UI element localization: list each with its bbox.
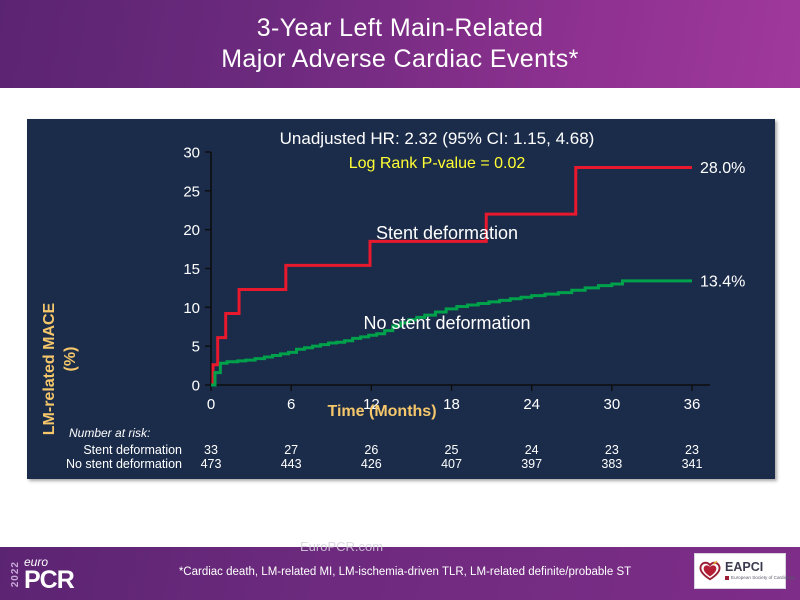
risk-value: 23 bbox=[685, 443, 699, 457]
x-tick-label: 24 bbox=[523, 396, 540, 413]
x-tick-label: 0 bbox=[207, 396, 215, 413]
y-tick-label: 0 bbox=[192, 378, 200, 395]
eapci-subtitle-text: European Society of Cardiology bbox=[731, 574, 796, 581]
y-tick-label: 15 bbox=[183, 261, 200, 278]
eapci-name: EAPCI bbox=[725, 561, 796, 574]
risk-value: 23 bbox=[605, 443, 619, 457]
risk-value: 26 bbox=[364, 443, 378, 457]
risk-row-label: No stent deformation bbox=[66, 457, 182, 471]
x-tick-label: 30 bbox=[603, 396, 620, 413]
risk-value: 426 bbox=[361, 457, 382, 471]
page-title-line-1: 3-Year Left Main-Related bbox=[257, 13, 544, 44]
series-label: No stent deformation bbox=[363, 313, 530, 333]
risk-value: 27 bbox=[284, 443, 298, 457]
risk-value: 383 bbox=[601, 457, 622, 471]
series-inline-labels: Stent deformationNo stent deformation bbox=[363, 223, 530, 333]
x-tick-label: 6 bbox=[287, 396, 295, 413]
curve-stent-deformation bbox=[211, 168, 692, 385]
x-axis-ticks: 061218243036 bbox=[207, 385, 701, 413]
y-axis-ticks: 051015202530 bbox=[183, 145, 211, 395]
eapci-text-block: EAPCI European Society of Cardiology bbox=[725, 561, 796, 581]
kaplan-meier-chart: Unadjusted HR: 2.32 (95% CI: 1.15, 4.68)… bbox=[27, 119, 775, 479]
europcr-logo-pcr: PCR bbox=[24, 568, 74, 592]
curve-end-label: 13.4% bbox=[700, 273, 745, 290]
y-axis-title: LM-related MACE bbox=[41, 302, 58, 435]
hazard-ratio-annotation: Unadjusted HR: 2.32 (95% CI: 1.15, 4.68) bbox=[280, 129, 595, 148]
curve-end-label: 28.0% bbox=[700, 160, 745, 177]
footnote-text: *Cardiac death, LM-related MI, LM-ischem… bbox=[135, 566, 675, 578]
europcr-logo: 2022 euro PCR bbox=[10, 553, 94, 595]
slide-footer: 2022 euro PCR *Cardiac death, LM-related… bbox=[0, 547, 800, 600]
slide-header: 3-Year Left Main-Related Major Adverse C… bbox=[0, 0, 800, 88]
eapci-logo: EAPCI European Society of Cardiology bbox=[694, 553, 786, 589]
y-tick-label: 20 bbox=[183, 222, 200, 239]
eapci-square-icon bbox=[725, 576, 729, 580]
risk-value: 473 bbox=[201, 457, 222, 471]
x-axis-title: Time (Months) bbox=[327, 403, 436, 420]
risk-value: 397 bbox=[521, 457, 542, 471]
page-title-line-2: Major Adverse Cardiac Events* bbox=[221, 44, 579, 75]
y-tick-label: 30 bbox=[183, 145, 200, 162]
europcr-logo-year: 2022 bbox=[10, 561, 21, 587]
risk-value: 341 bbox=[682, 457, 703, 471]
x-tick-label: 36 bbox=[684, 396, 701, 413]
y-tick-label: 5 bbox=[192, 339, 200, 356]
curve-end-labels: 28.0%13.4% bbox=[700, 160, 745, 290]
risk-value: 443 bbox=[281, 457, 302, 471]
watermark-text: EuroPCR.com bbox=[300, 539, 383, 554]
risk-table-heading: Number at risk: bbox=[69, 426, 150, 440]
risk-row-label: Stent deformation bbox=[83, 443, 182, 457]
y-axis-title-unit: (%) bbox=[62, 347, 79, 372]
p-value-annotation: Log Rank P-value = 0.02 bbox=[349, 155, 526, 172]
risk-value: 407 bbox=[441, 457, 462, 471]
chart-panel: Unadjusted HR: 2.32 (95% CI: 1.15, 4.68)… bbox=[27, 119, 775, 479]
risk-value: 25 bbox=[445, 443, 459, 457]
y-tick-label: 10 bbox=[183, 300, 200, 317]
y-tick-label: 25 bbox=[183, 183, 200, 200]
number-at-risk-table: Number at risk:Stent deformation33272625… bbox=[66, 426, 703, 471]
eapci-subtitle: European Society of Cardiology bbox=[725, 574, 796, 581]
series-label: Stent deformation bbox=[376, 223, 518, 243]
risk-value: 24 bbox=[525, 443, 539, 457]
x-tick-label: 18 bbox=[443, 396, 460, 413]
risk-value: 33 bbox=[204, 443, 218, 457]
curve-group bbox=[211, 168, 692, 385]
heart-icon bbox=[699, 560, 721, 582]
